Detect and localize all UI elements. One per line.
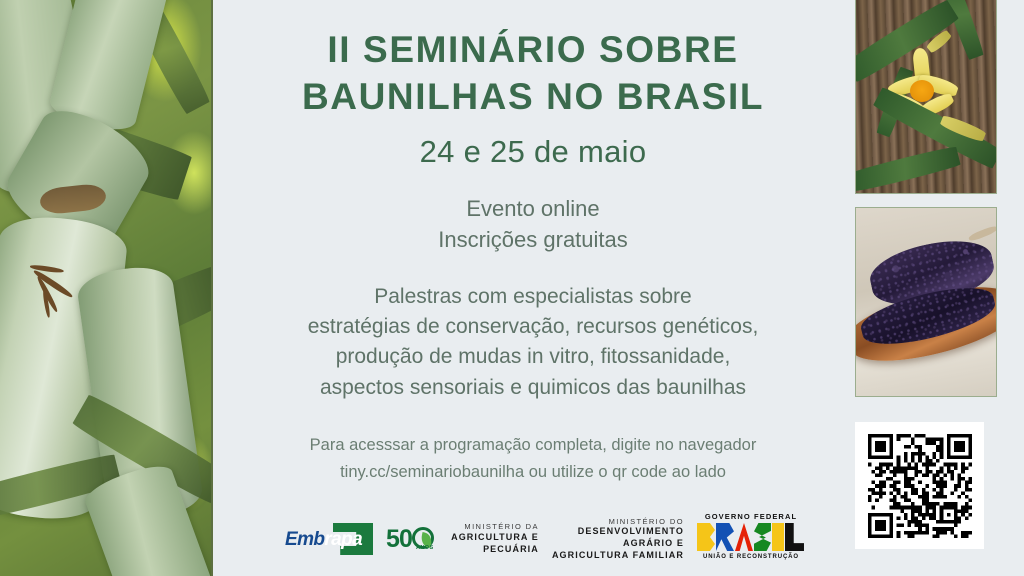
embrapa-wordmark: Emb <box>285 529 324 550</box>
ministry-agriculture-line-3: PECUÁRIA <box>451 544 539 556</box>
qr-code[interactable] <box>868 434 972 538</box>
ministry-agrarian-line-2: DESENVOLVIMENTO <box>552 526 684 538</box>
topics-line-2: estratégias de conservação, recursos gen… <box>308 315 759 338</box>
brasil-wordmark-icon <box>697 523 805 551</box>
government-federal-logo: GOVERNO FEDERAL UNIÃO E RECONSTRUÇÃO <box>697 512 805 566</box>
title-line-2: BAUNILHAS NO BRASIL <box>302 76 764 117</box>
vanilla-bean-seeds-photo <box>855 207 997 397</box>
right-media-column <box>853 0 1024 576</box>
ministry-agrarian-line-3: AGRÁRIO E <box>552 538 684 550</box>
logo-bar: Embrapa 50 ANOS MINISTÉRIO DA AGRICULTUR… <box>285 508 805 570</box>
vanilla-flower-photo <box>855 0 997 194</box>
topics-line-3: produção de mudas in vitro, fitossanidad… <box>336 345 731 368</box>
page-title: II SEMINÁRIO SOBRE BAUNILHAS NO BRASIL <box>213 26 853 121</box>
ministry-agrarian-line-4: AGRICULTURA FAMILIAR <box>552 550 684 562</box>
government-slogan: UNIÃO E RECONSTRUÇÃO <box>697 554 805 560</box>
ministry-agriculture-line-1: MINISTÉRIO DA <box>451 522 539 532</box>
event-poster: II SEMINÁRIO SOBRE BAUNILHAS NO BRASIL 2… <box>0 0 1024 576</box>
embrapa-wordmark-green: rapa <box>324 529 362 550</box>
event-mode: Evento online Inscrições gratuitas <box>213 193 853 255</box>
embrapa-logo: Embrapa <box>285 522 373 556</box>
ministry-agrarian-logo: MINISTÉRIO DO DESENVOLVIMENTO AGRÁRIO E … <box>552 517 684 562</box>
anniversary-label: ANOS <box>416 545 434 551</box>
ministry-agrarian-line-1: MINISTÉRIO DO <box>552 517 684 527</box>
anniversary-50-logo: 50 ANOS <box>386 521 438 557</box>
event-date: 24 e 25 de maio <box>213 134 853 170</box>
topics-line-4: aspectos sensoriais e quimicos das bauni… <box>320 376 746 399</box>
anniversary-number: 50 <box>386 525 412 554</box>
government-label: GOVERNO FEDERAL <box>697 512 805 521</box>
event-mode-line-1: Evento online <box>466 196 599 221</box>
event-topics: Palestras com especialistas sobre estrat… <box>213 282 853 403</box>
topics-line-1: Palestras com especialistas sobre <box>374 285 691 308</box>
event-registration: Inscrições gratuitas <box>438 227 628 252</box>
access-instructions: Para acesssar a programação completa, di… <box>213 432 853 485</box>
ministry-agriculture-line-2: AGRICULTURA E <box>451 532 539 544</box>
vanilla-pods-photo <box>0 0 213 576</box>
ministry-agriculture-logo: MINISTÉRIO DA AGRICULTURA E PECUÁRIA <box>451 522 539 555</box>
title-line-1: II SEMINÁRIO SOBRE <box>327 29 738 70</box>
access-line-1: Para acesssar a programação completa, di… <box>310 436 757 454</box>
poster-content: II SEMINÁRIO SOBRE BAUNILHAS NO BRASIL 2… <box>213 0 853 576</box>
access-line-2: tiny.cc/seminariobaunilha ou utilize o q… <box>340 463 726 481</box>
qr-code-card[interactable] <box>855 422 984 549</box>
